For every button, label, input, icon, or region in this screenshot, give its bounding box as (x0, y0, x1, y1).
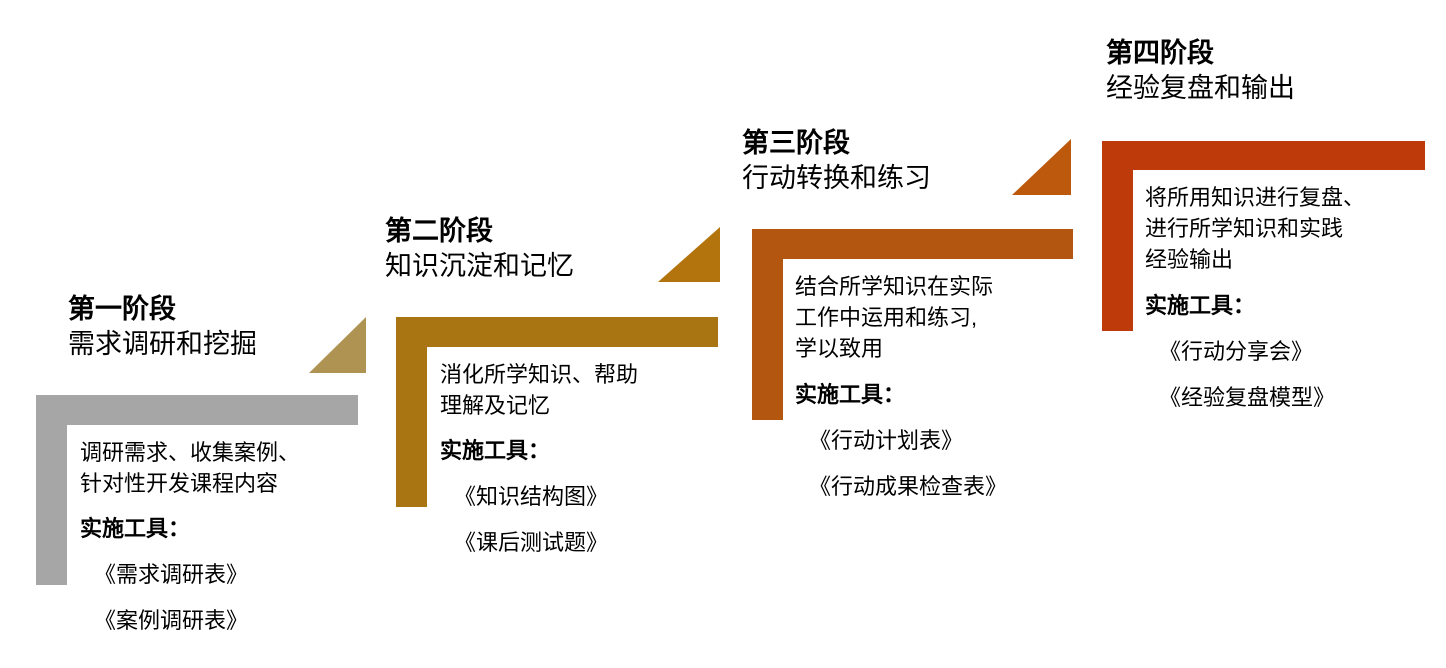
stage-4-heading-line1: 第四阶段 (1106, 36, 1295, 71)
stage-3-description-line-2: 学以致用 (795, 333, 1007, 364)
stage-3-heading-line2: 行动转换和练习 (742, 161, 931, 196)
stage-4-tool-1: 《经验复盘模型》 (1145, 380, 1365, 412)
stage-4-body: 将所用知识进行复盘、 进行所学知识和实践 经验输出 实施工具： 《行动分享会》 … (1145, 182, 1365, 412)
stage-3-tool-0: 《行动计划表》 (795, 423, 1007, 455)
stage-2-bracket-arm (396, 317, 718, 347)
stage-4-bracket-arm (1102, 141, 1425, 170)
stage-3-body: 结合所学知识在实际 工作中运用和练习, 学以致用 实施工具： 《行动计划表》 《… (795, 271, 1007, 501)
stage-4-description-line-2: 经验输出 (1145, 244, 1365, 275)
stage-4-tools-label: 实施工具： (1145, 288, 1365, 320)
stage-2-tool-0: 《知识结构图》 (440, 479, 638, 511)
stage-4-tool-0: 《行动分享会》 (1145, 334, 1365, 366)
stage-4-heading: 第四阶段 经验复盘和输出 (1106, 36, 1295, 105)
stage-1-body: 调研需求、收集案例、 针对性开发课程内容 实施工具： 《需求调研表》 《案例调研… (80, 437, 300, 635)
stage-2-heading-line2: 知识沉淀和记忆 (385, 249, 574, 284)
stage-2-bracket-stem (396, 347, 427, 507)
stage-1-tool-0: 《需求调研表》 (80, 557, 300, 589)
stage-2-description-line-0: 消化所学知识、帮助 (440, 359, 638, 390)
stage-3-bracket-stem (752, 259, 783, 420)
stage-4-heading-line2: 经验复盘和输出 (1106, 71, 1295, 106)
stage-2-tools-label: 实施工具： (440, 433, 638, 465)
stage-4-description-line-1: 进行所学知识和实践 (1145, 213, 1365, 244)
stage-2-tool-1: 《课后测试题》 (440, 525, 638, 557)
stage-4-description-line-0: 将所用知识进行复盘、 (1145, 182, 1365, 213)
stage-1-tool-1: 《案例调研表》 (80, 603, 300, 635)
stage-1-bracket-arm (36, 395, 358, 425)
stage-3-description-line-0: 结合所学知识在实际 (795, 271, 1007, 302)
stage-3-corner-triangle (1012, 139, 1071, 195)
stage-1-description-line-0: 调研需求、收集案例、 (80, 437, 300, 468)
stage-3-heading: 第三阶段 行动转换和练习 (742, 126, 931, 195)
stage-1-corner-triangle (309, 317, 366, 373)
stage-1-heading: 第一阶段 需求调研和挖掘 (68, 292, 257, 361)
stage-2-heading: 第二阶段 知识沉淀和记忆 (385, 214, 574, 283)
stage-2-corner-triangle (658, 227, 720, 282)
stage-1-bracket-stem (36, 425, 67, 585)
stage-3-bracket-arm (752, 229, 1073, 259)
stage-1-heading-line1: 第一阶段 (68, 292, 257, 327)
stage-3-tools-label: 实施工具： (795, 377, 1007, 409)
stage-2-body: 消化所学知识、帮助 理解及记忆 实施工具： 《知识结构图》 《课后测试题》 (440, 359, 638, 557)
stage-2-description-line-1: 理解及记忆 (440, 390, 638, 421)
stage-3-tool-1: 《行动成果检查表》 (795, 469, 1007, 501)
stage-1-description-line-1: 针对性开发课程内容 (80, 468, 300, 499)
stage-1-heading-line2: 需求调研和挖掘 (68, 327, 257, 362)
stage-3-heading-line1: 第三阶段 (742, 126, 931, 161)
stage-3-description-line-1: 工作中运用和练习, (795, 302, 1007, 333)
stage-4-bracket-stem (1102, 170, 1133, 331)
stage-1-tools-label: 实施工具： (80, 511, 300, 543)
stage-2-heading-line1: 第二阶段 (385, 214, 574, 249)
